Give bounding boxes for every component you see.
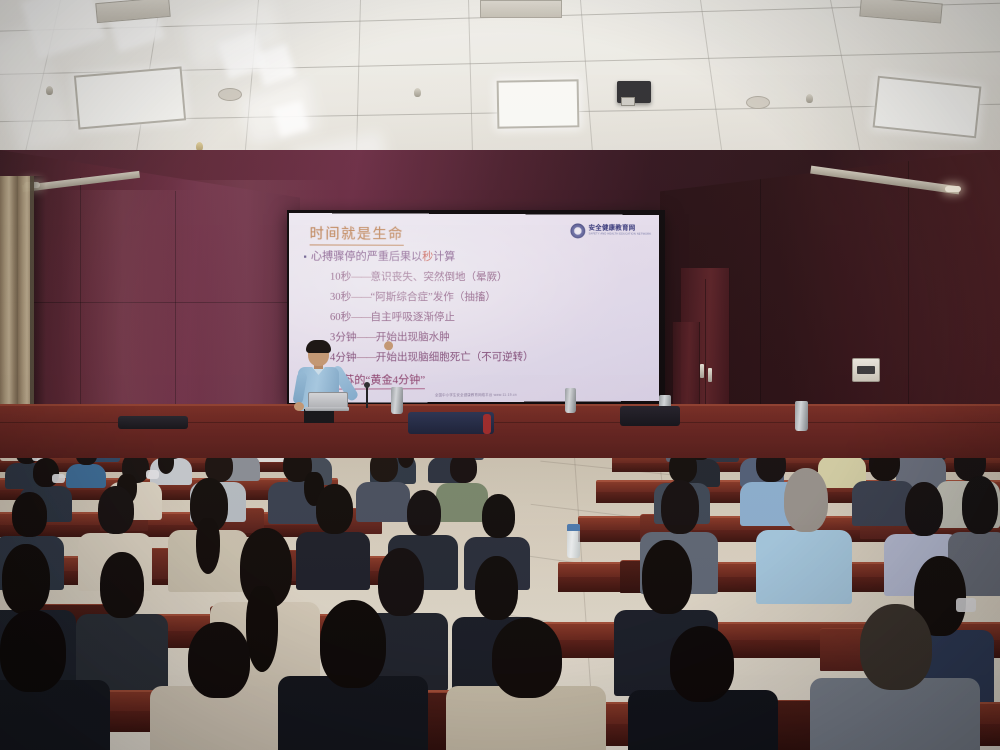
wall-control-panel[interactable] — [852, 358, 880, 382]
sprinkler-head — [414, 88, 421, 97]
thermos-flask[interactable] — [565, 388, 576, 413]
slide-line: 60秒——自主呼吸逐渐停止 — [330, 309, 647, 324]
bullet-text-highlight: 秒 — [422, 251, 433, 263]
bullet-dot-icon: ▪ — [304, 251, 307, 261]
recessed-downlight — [945, 186, 961, 192]
sprinkler-head — [806, 94, 813, 103]
control-panel-slot — [857, 366, 876, 373]
ceiling-speaker — [746, 96, 770, 109]
attendee — [628, 626, 778, 750]
slide-logo: 安全健康教育网 SAFETY AND HEALTH EDUCATION NETW… — [571, 223, 651, 238]
presenter-hand-lower — [294, 402, 304, 411]
line-time: 60秒 — [330, 312, 351, 323]
attendee — [0, 610, 110, 750]
lecture-hall-photo: 时间就是生命 安全健康教育网 SAFETY AND HEALTH EDUCATI… — [0, 0, 1000, 750]
line-text: “阿斯综合症”发作（抽搐） — [370, 292, 495, 303]
desk-microphone — [366, 386, 368, 408]
ceiling-panel-light — [873, 76, 982, 139]
thermos-flask[interactable] — [795, 401, 808, 431]
door-handle[interactable] — [708, 368, 712, 382]
attendee — [810, 604, 980, 750]
line-dash: —— — [351, 292, 370, 303]
presenter-hair — [306, 340, 331, 353]
slide-title: 时间就是生命 — [310, 223, 404, 246]
attendee — [150, 622, 290, 750]
slide-footer: 全国中小学生安全健康教育网络平台 www.11-19.cn — [435, 392, 517, 397]
seal-emblem-icon — [571, 223, 586, 238]
thermos-flask[interactable] — [391, 387, 403, 414]
slide-line: 4分钟——开始出现脑细胞死亡（不可逆转） — [330, 349, 647, 365]
attendee — [278, 600, 428, 750]
line-text: 意识丧失、突然倒地（晕厥） — [370, 272, 507, 283]
line-text: 自主呼吸逐渐停止 — [370, 312, 455, 323]
laptop-base — [305, 407, 349, 411]
line-dash: —— — [357, 332, 376, 343]
bullet-text-post: 计算 — [433, 251, 455, 263]
attendee — [446, 618, 606, 750]
door-handle[interactable] — [700, 364, 704, 378]
front-podium-desk — [0, 404, 1000, 458]
line-time: 30秒 — [330, 292, 351, 303]
slide-body: ▪ 心搏骤停的严重后果以秒计算 10秒——意识丧失、突然倒地（晕厥） 30秒——… — [304, 247, 648, 389]
line-time: 10秒 — [330, 272, 351, 283]
logo-name-en: SAFETY AND HEALTH EDUCATION NETWORK — [589, 233, 652, 236]
slide-line: 10秒——意识丧失、突然倒地（晕厥） — [330, 269, 647, 285]
red-strap — [483, 414, 491, 434]
slide-line: 30秒——“阿斯综合症”发作（抽搐） — [330, 289, 647, 304]
black-folder[interactable] — [118, 416, 188, 429]
ceiling-projector — [617, 81, 651, 103]
projector-lens — [621, 97, 635, 106]
sprinkler-head — [46, 86, 53, 95]
bullet-text-pre: 心搏骤停的严重后果以 — [311, 250, 422, 262]
presenter-laptop[interactable] — [305, 392, 349, 414]
water-bottle[interactable] — [567, 524, 580, 558]
navy-bag[interactable] — [408, 412, 494, 434]
attendee — [756, 468, 852, 600]
ceiling-panel-light — [497, 79, 580, 128]
line-dash: —— — [351, 312, 370, 323]
line-dash: —— — [351, 272, 370, 283]
ceiling-speaker — [218, 88, 242, 101]
slide-bullet-main: ▪ 心搏骤停的严重后果以秒计算 — [304, 247, 648, 264]
line-text: 开始出现脑细胞死亡（不可逆转） — [376, 352, 534, 363]
bottle-cap — [567, 524, 580, 531]
dark-bag[interactable] — [620, 406, 680, 426]
slide-line: 3分钟——开始出现脑水肿 — [330, 329, 647, 344]
air-vent — [480, 0, 562, 18]
ceiling-panel-light — [74, 66, 186, 129]
line-dash: —— — [357, 352, 376, 363]
